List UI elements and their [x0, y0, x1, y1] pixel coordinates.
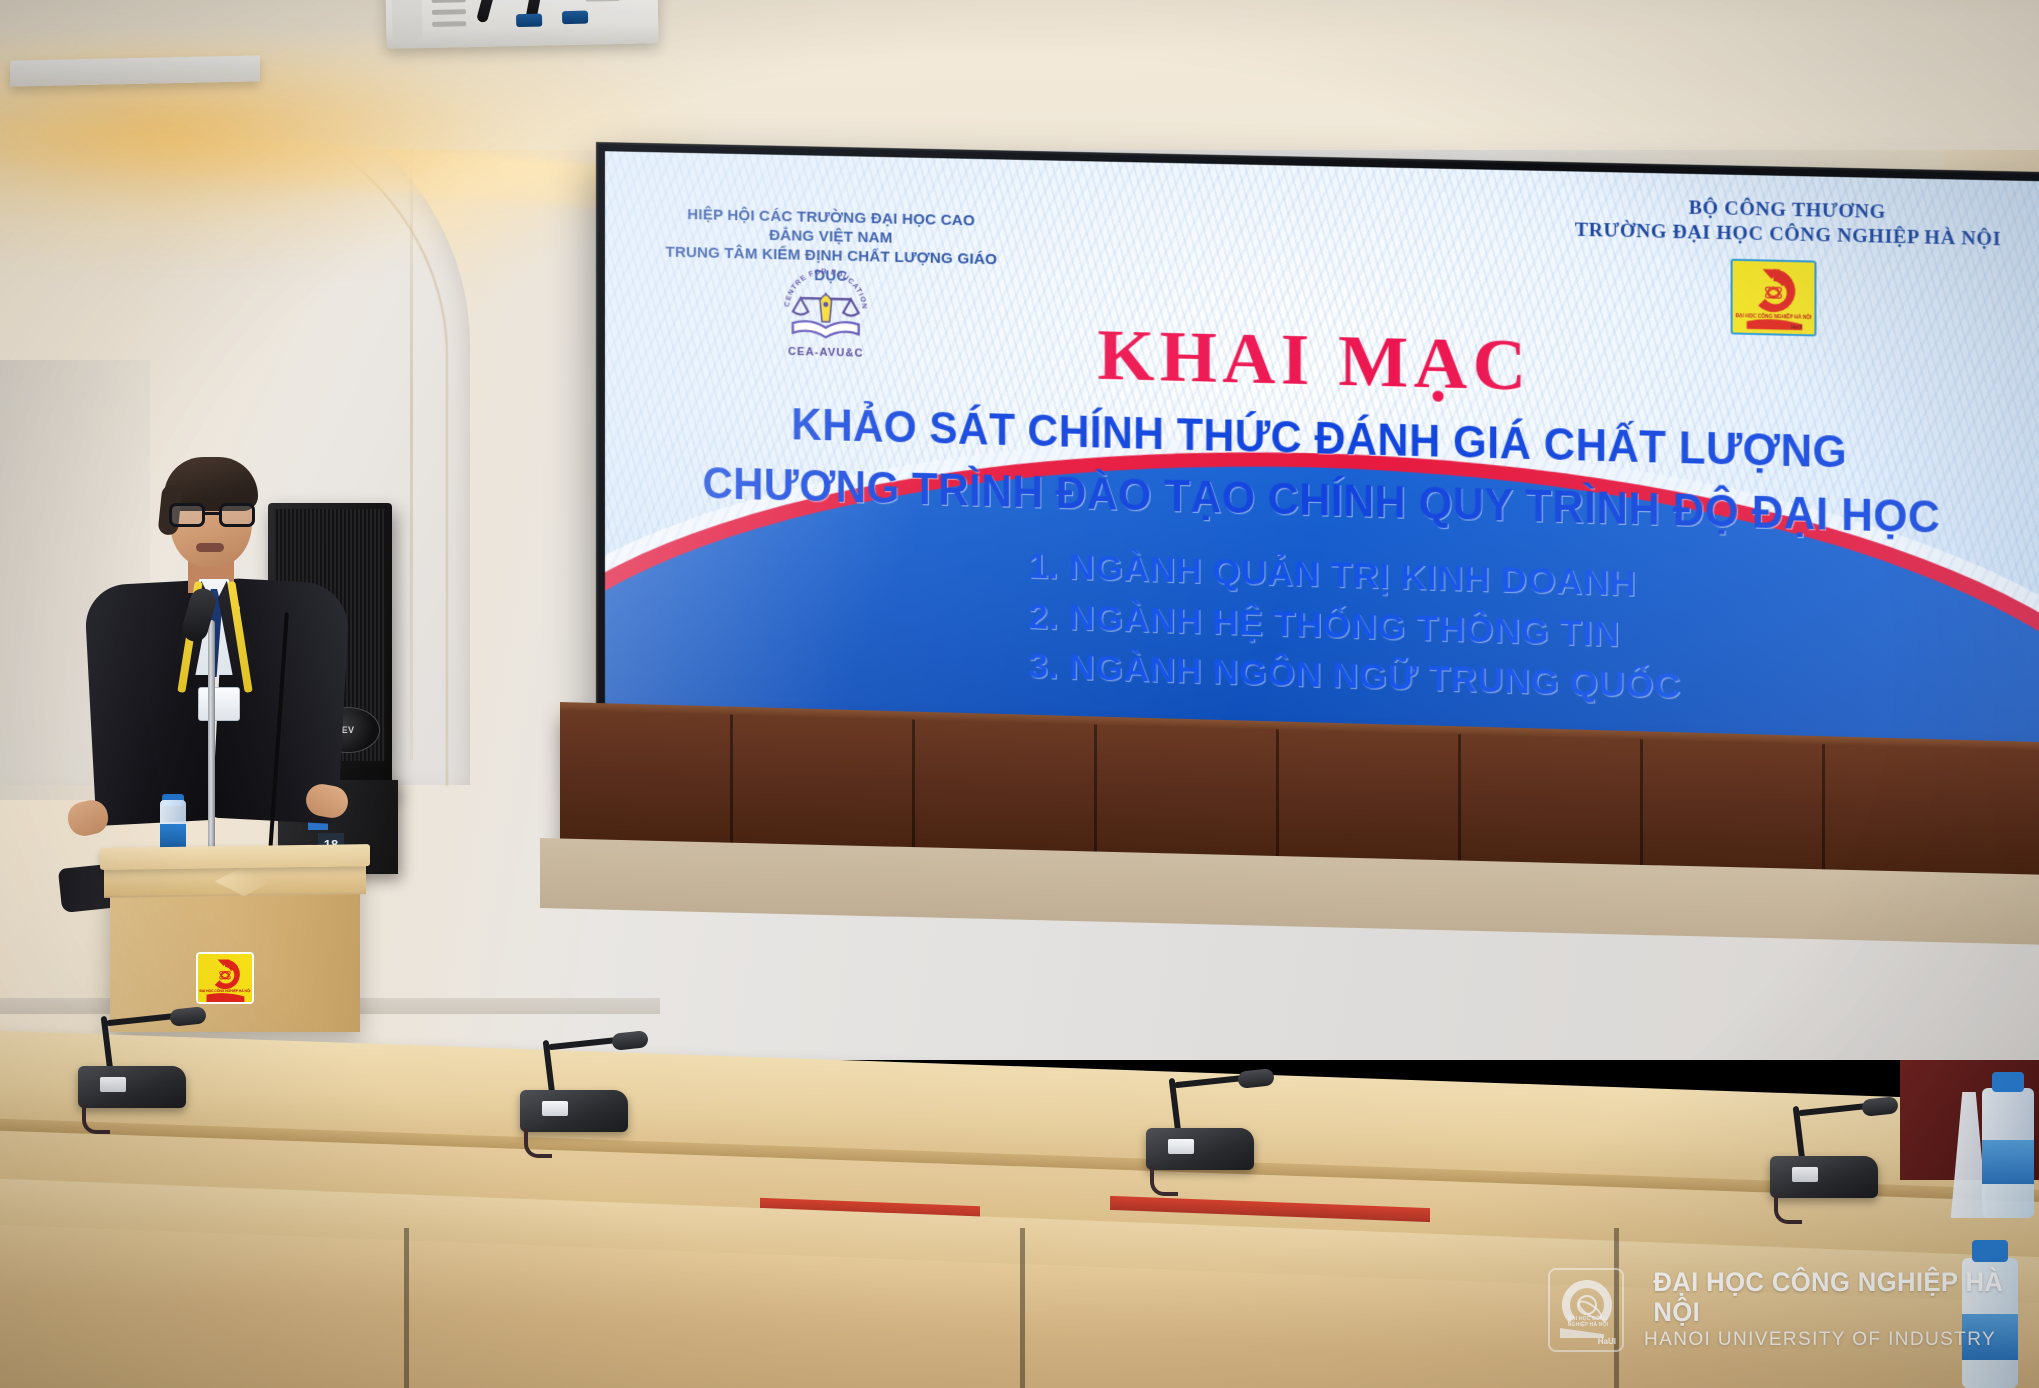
water-bottle-label [160, 824, 186, 848]
mic-talk-button[interactable] [100, 1077, 126, 1092]
conference-hall-photo: HIỆP HỘI CÁC TRƯỜNG ĐẠI HỌC CAO ĐẲNG VIỆ… [0, 0, 2039, 1388]
glasses-lens-right [219, 503, 255, 527]
podium-microphone-stem [208, 620, 215, 864]
cabinet-seam [1822, 744, 1825, 884]
mouth [196, 543, 224, 552]
bottle-label [1982, 1140, 2034, 1184]
projector-plate [391, 0, 422, 43]
table-panel-gap [1020, 1228, 1025, 1388]
projector-vent [432, 9, 466, 15]
podium-top-surface [100, 844, 370, 870]
cabinet-seam [1458, 734, 1461, 874]
projector-vent [432, 21, 466, 27]
led-presentation-screen: HIỆP HỘI CÁC TRƯỜNG ĐẠI HỌC CAO ĐẲNG VIỆ… [596, 142, 2039, 803]
conference-microphone [1770, 1106, 1878, 1198]
mic-base [1146, 1128, 1254, 1170]
cabinet-seam [1640, 739, 1643, 879]
name-badge [198, 687, 240, 721]
mic-cord [1774, 1194, 1802, 1224]
speaker-person [70, 455, 370, 875]
glasses-lens-left [169, 503, 205, 527]
cabinet-seam [730, 715, 733, 855]
svg-text:ĐẠI HỌC CÔNG NGHIỆP HÀ NỘI: ĐẠI HỌC CÔNG NGHIỆP HÀ NỘI [200, 988, 251, 993]
conference-microphone [78, 1016, 186, 1108]
cabinet-seam [1276, 729, 1279, 869]
podium-logo-svg: ĐẠI HỌC CÔNG NGHIỆP HÀ NỘI [198, 954, 252, 1002]
slide-header-right: BỘ CÔNG THƯƠNG TRƯỜNG ĐẠI HỌC CÔNG NGHIỆ… [1563, 194, 2014, 254]
mic-cord [1150, 1166, 1178, 1196]
conference-microphone [520, 1040, 628, 1132]
table-panel-gap [1614, 1228, 1619, 1388]
glasses-bridge [205, 512, 219, 515]
slide-content: HIỆP HỘI CÁC TRƯỜNG ĐẠI HỌC CAO ĐẲNG VIỆ… [605, 151, 2039, 793]
haui-logo-icon: ĐẠI HỌC CÔNG NGHIỆP HÀ NỘI HaUI [1731, 259, 1817, 337]
water-bottle [1982, 1088, 2034, 1218]
bottle-label [1962, 1314, 2018, 1360]
mic-base [1770, 1156, 1878, 1198]
mic-base [78, 1066, 186, 1108]
mic-base [520, 1090, 628, 1132]
water-bottle [1962, 1258, 2018, 1388]
mic-talk-button[interactable] [1168, 1139, 1194, 1154]
bottle-cap [1992, 1072, 2024, 1092]
conference-microphone [1146, 1078, 1254, 1170]
haui-logo-svg: ĐẠI HỌC CÔNG NGHIỆP HÀ NỘI HaUI [1733, 261, 1815, 335]
projector-port [516, 14, 542, 28]
mic-cord [524, 1128, 552, 1158]
cabinet-seam [1094, 724, 1097, 864]
projector-mount [10, 55, 260, 86]
screen-bezel: HIỆP HỘI CÁC TRƯỜNG ĐẠI HỌC CAO ĐẲNG VIỆ… [596, 142, 2039, 803]
eyeglasses-icon [169, 503, 255, 527]
screen-surface: HIỆP HỘI CÁC TRƯỜNG ĐẠI HỌC CAO ĐẲNG VIỆ… [605, 151, 2039, 793]
mic-talk-button[interactable] [542, 1101, 568, 1116]
podium-haui-logo-icon: ĐẠI HỌC CÔNG NGHIỆP HÀ NỘI [196, 952, 254, 1004]
bottle-cap [1972, 1240, 2008, 1262]
ceiling-projector [385, 0, 658, 49]
mic-talk-button[interactable] [1792, 1167, 1818, 1182]
slide-program-list: 1. NGÀNH QUẢN TRỊ KINH DOANH 2. NGÀNH HỆ… [1028, 541, 1792, 716]
table-panel-gap [404, 1228, 409, 1388]
projector-port [562, 11, 588, 25]
mic-cord [82, 1104, 110, 1134]
cabinet-seam [912, 720, 915, 860]
